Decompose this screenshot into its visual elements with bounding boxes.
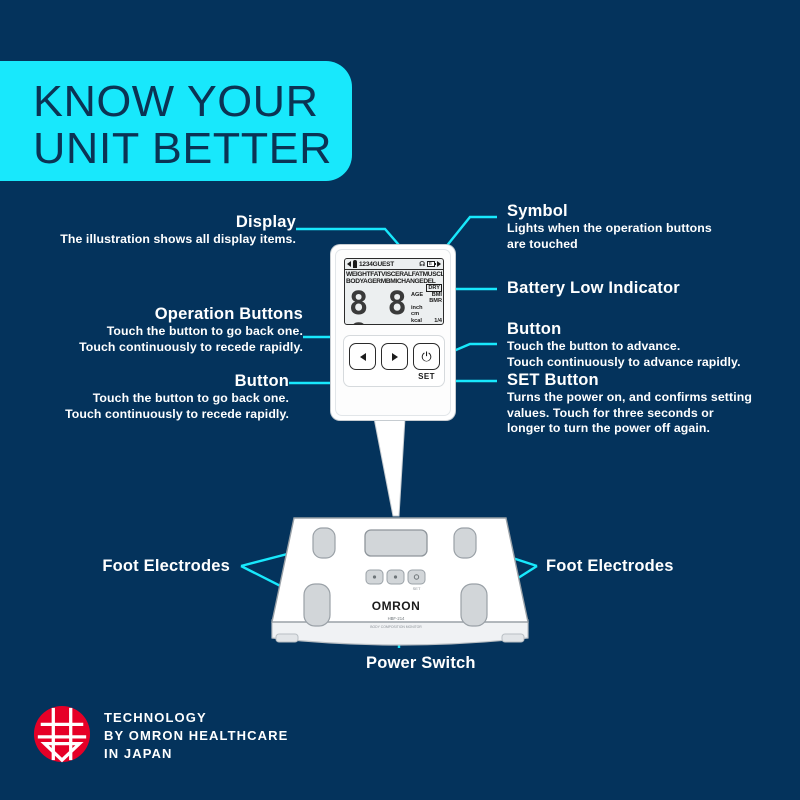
callout-foot-electrodes-right: Foot Electrodes [546, 557, 746, 576]
callout-symbol-line1: Lights when the operation buttons [507, 221, 787, 237]
lcd-dry-badge: DRY [426, 284, 442, 292]
callout-symbol-line2: are touched [507, 237, 787, 253]
battery-glyph: B [429, 262, 432, 266]
omron-japan-logo [33, 705, 91, 763]
banner-line-1: KNOW YOUR [33, 77, 319, 127]
back-arrow-button[interactable] [349, 343, 376, 370]
scale-brand-logo: OMRON [372, 599, 421, 613]
scale-model-line1: HBF-214 [388, 616, 405, 621]
scale-display-dock [365, 530, 427, 556]
callout-operation-buttons-line2: Touch continuously to recede rapidly. [18, 340, 303, 356]
callout-button-left-title: Button [18, 372, 289, 391]
scale-model-line2: BODY COMPOSITION MONITOR [370, 625, 422, 629]
lcd-user-text: 1234GUEST [359, 261, 394, 268]
callout-battery-low: Battery Low Indicator [507, 279, 787, 298]
callout-display-title: Display [18, 213, 296, 232]
infographic-root: KNOW YOUR UNIT BETTER [0, 0, 800, 800]
callout-set-button: SET Button Turns the power on, and confi… [507, 371, 795, 437]
display-unit: 1234GUEST ☊ B WEIGHTFATVISCERALFATMUSCLE… [331, 245, 455, 420]
callout-display-body: The illustration shows all display items… [18, 232, 296, 248]
lcd-screen: 1234GUEST ☊ B WEIGHTFATVISCERALFATMUSCLE… [344, 258, 444, 325]
scale-power-switch [408, 570, 425, 584]
right-arrow-icon [392, 353, 398, 361]
power-button[interactable]: ⏻ [413, 343, 440, 370]
foot-electrode-top-left [313, 528, 335, 558]
operation-button-panel: ⏻ SET [343, 335, 445, 387]
footer-line-3: IN JAPAN [104, 745, 288, 763]
callout-foot-electrodes-left: Foot Electrodes [40, 557, 230, 576]
lcd-unit-row: %1/2 [411, 324, 442, 325]
callout-button-left: Button Touch the button to go back one. … [18, 372, 289, 422]
forward-arrow-button[interactable] [381, 343, 408, 370]
scale-foot [502, 634, 524, 642]
battery-low-icon: B [427, 261, 435, 267]
callout-set-button-line1: Turns the power on, and confirms setting [507, 390, 795, 406]
callout-operation-buttons-line1: Touch the button to go back one. [18, 324, 303, 340]
body-composition-scale: SET OMRON HBF-214 BODY COMPOSITION MONIT… [250, 500, 550, 660]
lcd-units-column: DRY AGEBMI BMR inch cm kcal1/4 %1/2 kg3/… [411, 284, 442, 325]
scale-foot [276, 634, 298, 642]
lcd-topbar: 1234GUEST ☊ B [345, 259, 443, 270]
foot-electrode-bottom-left [304, 584, 330, 626]
callout-set-button-line3: longer to turn the power off again. [507, 421, 795, 437]
scale-set-label: SET [413, 586, 421, 591]
right-triangle-icon [437, 261, 441, 267]
display-unit-body: 1234GUEST ☊ B WEIGHTFATVISCERALFATMUSCLE… [335, 249, 451, 416]
callout-foot-electrodes-right-title: Foot Electrodes [546, 557, 746, 576]
callout-operation-buttons-title: Operation Buttons [18, 305, 303, 324]
lcd-label-row-1: WEIGHTFATVISCERALFATMUSCLE [346, 271, 444, 278]
power-icon: ⏻ [421, 350, 431, 363]
callout-button-left-line2: Touch continuously to recede rapidly. [18, 407, 289, 423]
callout-symbol-title: Symbol [507, 202, 787, 221]
left-triangle-icon [347, 261, 351, 267]
callout-battery-low-title: Battery Low Indicator [507, 279, 787, 298]
callout-symbol: Symbol Lights when the operation buttons… [507, 202, 787, 252]
person-icon [353, 260, 357, 268]
callout-display: Display The illustration shows all displ… [18, 213, 296, 248]
callout-set-button-line2: values. Touch for three seconds or [507, 406, 795, 422]
callout-button-right: Button Touch the button to advance. Touc… [507, 320, 792, 370]
callout-button-right-title: Button [507, 320, 792, 339]
set-button-label: SET [410, 372, 443, 381]
footer-line-2: BY OMRON HEALTHCARE [104, 727, 288, 745]
callout-button-right-line2: Touch continuously to advance rapidly. [507, 355, 792, 371]
footer: TECHNOLOGY BY OMRON HEALTHCARE IN JAPAN [33, 703, 333, 773]
callout-operation-buttons: Operation Buttons Touch the button to go… [18, 305, 303, 355]
foot-electrode-bottom-right [461, 584, 487, 626]
foot-electrode-top-right [454, 528, 476, 558]
operation-symbol-icon: ☊ [419, 260, 425, 268]
callout-foot-electrodes-left-title: Foot Electrodes [40, 557, 230, 576]
callout-button-left-line1: Touch the button to go back one. [18, 391, 289, 407]
title-banner: KNOW YOUR UNIT BETTER [0, 61, 352, 181]
callout-button-right-line1: Touch the button to advance. [507, 339, 792, 355]
footer-text: TECHNOLOGY BY OMRON HEALTHCARE IN JAPAN [104, 709, 288, 763]
scale-illustration: SET OMRON HBF-214 BODY COMPOSITION MONIT… [250, 500, 550, 660]
left-arrow-icon [360, 353, 366, 361]
callout-set-button-title: SET Button [507, 371, 795, 390]
banner-line-2: UNIT BETTER [33, 124, 332, 174]
footer-line-1: TECHNOLOGY [104, 709, 288, 727]
